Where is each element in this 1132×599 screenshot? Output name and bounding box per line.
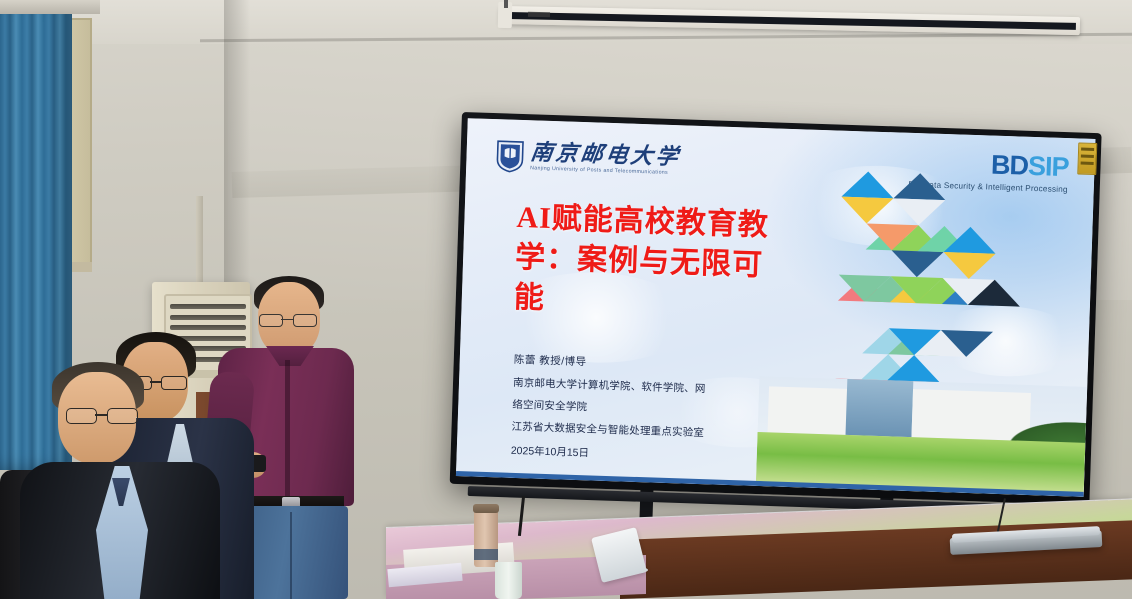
slide-affiliation-3: 江苏省大数据安全与智能处理重点实验室 bbox=[511, 420, 779, 444]
eyeglasses-icon bbox=[66, 408, 140, 422]
triangle-3 bbox=[893, 172, 946, 200]
campus-photo bbox=[756, 376, 1087, 497]
wall-corner-shadow bbox=[224, 0, 250, 300]
triangle-27 bbox=[887, 354, 940, 382]
tv-screen: 南京邮电大学 Nanjing University of Posts and T… bbox=[456, 118, 1096, 497]
lab-logo-sip: SIP bbox=[1028, 153, 1069, 181]
slide-title: AI赋能高校教育教学：案例与无限可能 bbox=[513, 198, 787, 327]
ac-pipe bbox=[196, 196, 203, 288]
triangle-20 bbox=[968, 279, 1021, 307]
triangle-8 bbox=[891, 250, 944, 278]
slide-date: 2025年10月15日 bbox=[511, 442, 779, 466]
lecture-room-scene: 南京邮电大学 Nanjing University of Posts and T… bbox=[0, 0, 1132, 599]
yellow-asset-sticker bbox=[1077, 142, 1097, 175]
projection-screen-hook[interactable] bbox=[504, 0, 508, 8]
university-logo: 南京邮电大学 Nanjing University of Posts and T… bbox=[496, 139, 681, 178]
shield-crest-icon bbox=[496, 139, 524, 173]
triangle-4 bbox=[893, 198, 946, 226]
university-name-cn: 南京邮电大学 bbox=[529, 142, 682, 169]
curtain-rod bbox=[0, 0, 100, 14]
slide-affiliation-1: 南京邮电大学计算机学院、软件学院、网 bbox=[513, 376, 781, 400]
triangle-1 bbox=[841, 171, 894, 199]
thermos-label bbox=[474, 549, 498, 560]
triangle-25 bbox=[940, 330, 993, 358]
presenter-shirt-placket bbox=[285, 360, 290, 500]
campus-building-left bbox=[768, 386, 847, 435]
triangle-11 bbox=[943, 252, 996, 280]
projection-screen-label bbox=[528, 12, 550, 17]
triangle-10 bbox=[944, 226, 997, 254]
slide-meta: 陈蕾 教授/博导 南京邮电大学计算机学院、软件学院、网 络空间安全学院 江苏省大… bbox=[511, 352, 782, 466]
jeans-seam bbox=[290, 512, 292, 599]
thermos-cap bbox=[473, 504, 499, 513]
slide-affiliation-2: 络空间安全学院 bbox=[512, 398, 780, 422]
university-name-block: 南京邮电大学 Nanjing University of Posts and T… bbox=[530, 142, 681, 177]
wall-display[interactable]: 南京邮电大学 Nanjing University of Posts and T… bbox=[449, 112, 1101, 513]
paper-cup bbox=[495, 562, 522, 599]
slide-author: 陈蕾 教授/博导 bbox=[514, 352, 782, 376]
triangle-2 bbox=[841, 197, 894, 225]
eyeglasses-icon bbox=[259, 314, 317, 325]
presentation-slide: 南京邮电大学 Nanjing University of Posts and T… bbox=[456, 118, 1096, 497]
campus-building-center bbox=[846, 376, 914, 437]
